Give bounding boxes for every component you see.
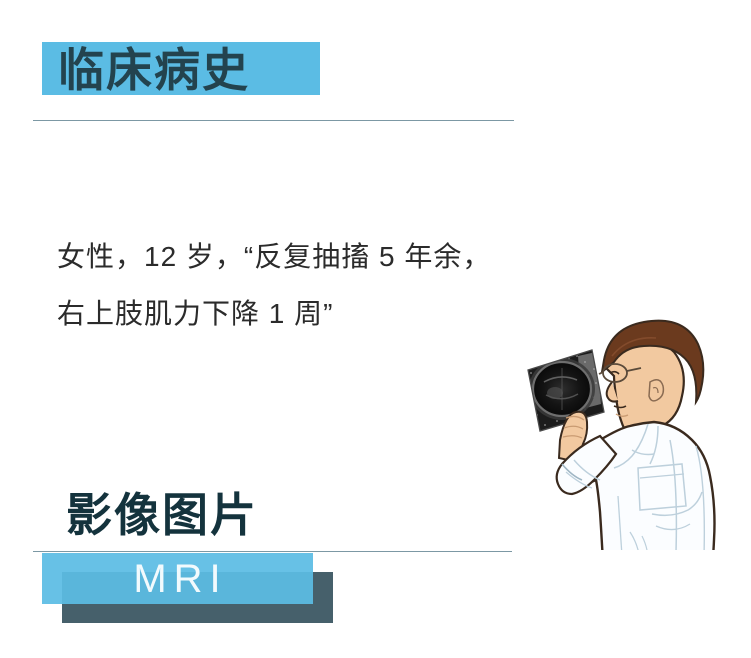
case-history-line-2: 右上肢肌力下降 1 周” [57,285,577,342]
imaging-section-title: 影像图片 [66,492,258,538]
doctor-holding-mri-film-illustration [500,300,751,550]
slide-canvas: 临床病史 女性，12 岁，“反复抽搐 5 年余， 右上肢肌力下降 1 周” 影像… [0,0,751,658]
clinical-history-title: 临床病史 [58,47,250,93]
case-history-line-1: 女性，12 岁，“反复抽搐 5 年余， [57,228,577,285]
clinical-history-divider [33,120,514,121]
case-history-text: 女性，12 岁，“反复抽搐 5 年余， 右上肢肌力下降 1 周” [57,228,577,342]
imaging-section-divider [33,551,512,552]
mri-banner-label: MRI [42,553,313,604]
